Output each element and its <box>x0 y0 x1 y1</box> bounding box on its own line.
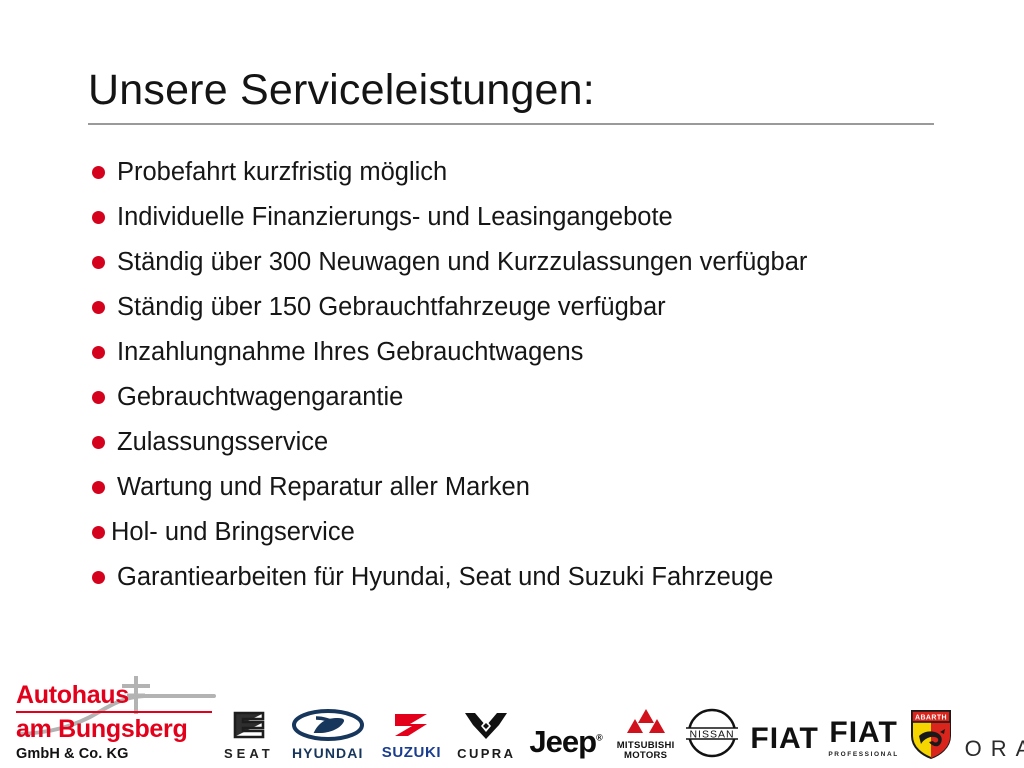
hyundai-logo-icon <box>292 709 364 741</box>
list-item: Ständig über 150 Gebrauchtfahrzeuge verf… <box>92 285 972 330</box>
mitsubishi-wordmark: MITSUBISHI MOTORS <box>617 741 675 760</box>
bullet-dot-icon <box>92 391 105 404</box>
bullet-dot-icon <box>92 166 105 179</box>
fiat-professional-wordmark: FIAT <box>829 718 897 748</box>
seat-wordmark: SEAT <box>224 747 274 760</box>
brand-logo-mitsubishi: MITSUBISHI MOTORS <box>617 692 675 760</box>
bullet-dot-icon <box>92 256 105 269</box>
dealer-name-line-1: Autohaus <box>16 683 129 708</box>
jeep-registered-mark: ® <box>596 733 603 743</box>
dealer-logo: Autohaus am Bungsberg GmbH & Co. KG <box>14 672 224 762</box>
cupra-wordmark: CUPRA <box>457 747 515 760</box>
nissan-logo-icon: NISSAN <box>685 706 739 760</box>
svg-text:ABARTH: ABARTH <box>915 715 947 722</box>
cupra-logo-icon <box>463 710 509 742</box>
list-item-label: Inzahlungnahme Ihres Gebrauchtwagens <box>117 330 583 375</box>
brand-logo-abarth: ABARTH <box>909 692 953 760</box>
abarth-logo-icon: ABARTH <box>909 708 953 760</box>
bullet-dot-icon <box>92 301 105 314</box>
brand-logo-seat: SEAT <box>224 692 274 760</box>
page-title: Unsere Serviceleistungen: <box>88 66 934 114</box>
footer: Autohaus am Bungsberg GmbH & Co. KG SEAT <box>0 660 1024 768</box>
fiat-professional-subtitle: PROFESSIONAL <box>828 752 898 759</box>
jeep-wordmark-text: Jeep <box>529 724 596 759</box>
list-item-label: Individuelle Finanzierungs- und Leasinga… <box>117 195 673 240</box>
bullet-dot-icon <box>92 346 105 359</box>
brand-logo-strip: SEAT HYUNDAI <box>224 680 1016 760</box>
brand-logo-jeep: Jeep® <box>529 692 602 760</box>
fiat-wordmark: FIAT <box>750 724 818 754</box>
brand-logo-fiat-professional: FIAT PROFESSIONAL <box>829 692 899 760</box>
mitsubishi-wordmark-line-2: MOTORS <box>617 751 675 761</box>
list-item-label: Ständig über 300 Neuwagen und Kurzzulass… <box>117 240 807 285</box>
slide-canvas: Unsere Serviceleistungen: Probefahrt kur… <box>0 0 1024 768</box>
suzuki-wordmark: SUZUKI <box>382 745 441 760</box>
list-item-label: Garantiearbeiten für Hyundai, Seat und S… <box>117 555 773 600</box>
list-item-label: Hol- und Bringservice <box>111 510 355 555</box>
ora-wordmark: ORA <box>965 738 1024 760</box>
bullet-dot-icon <box>92 571 105 584</box>
hyundai-wordmark: HYUNDAI <box>292 746 363 760</box>
list-item-label: Wartung und Reparatur aller Marken <box>117 465 530 510</box>
list-item-label: Zulassungsservice <box>117 420 328 465</box>
bullet-dot-icon <box>92 211 105 224</box>
list-item: Individuelle Finanzierungs- und Leasinga… <box>92 195 972 240</box>
list-item: Probefahrt kurzfristig möglich <box>92 150 972 195</box>
brand-logo-fiat: FIAT <box>751 692 819 760</box>
brand-logo-ora: ORA GWM <box>965 692 1024 760</box>
brand-logo-cupra: CUPRA <box>457 692 515 760</box>
suzuki-logo-icon <box>392 709 430 741</box>
dealer-name-line-2: am Bungsberg <box>16 717 187 742</box>
bullet-dot-icon <box>92 481 105 494</box>
brand-logo-hyundai: HYUNDAI <box>292 692 364 760</box>
list-item: Wartung und Reparatur aller Marken <box>92 465 972 510</box>
brand-logo-nissan: NISSAN <box>685 692 739 760</box>
bullet-dot-icon <box>92 436 105 449</box>
brand-logo-suzuki: SUZUKI <box>382 692 441 760</box>
svg-text:NISSAN: NISSAN <box>689 728 734 740</box>
list-item-label: Ständig über 150 Gebrauchtfahrzeuge verf… <box>117 285 666 330</box>
list-item: Zulassungsservice <box>92 420 972 465</box>
mitsubishi-logo-icon <box>625 707 667 737</box>
list-item: Hol- und Bringservice <box>92 510 972 555</box>
list-item: Ständig über 300 Neuwagen und Kurzzulass… <box>92 240 972 285</box>
list-item: Garantiearbeiten für Hyundai, Seat und S… <box>92 555 972 600</box>
list-item-label: Gebrauchtwagengarantie <box>117 375 403 420</box>
dealer-logo-underline <box>16 711 212 713</box>
title-block: Unsere Serviceleistungen: <box>88 66 934 125</box>
services-list: Probefahrt kurzfristig möglich Individue… <box>92 150 972 600</box>
dealer-legal-form: GmbH & Co. KG <box>16 747 128 762</box>
list-item-label: Probefahrt kurzfristig möglich <box>117 150 447 195</box>
bullet-dot-icon <box>92 526 105 539</box>
list-item: Inzahlungnahme Ihres Gebrauchtwagens <box>92 330 972 375</box>
title-divider <box>88 123 934 125</box>
list-item: Gebrauchtwagengarantie <box>92 375 972 420</box>
jeep-wordmark: Jeep® <box>529 726 602 757</box>
seat-logo-icon <box>231 709 267 741</box>
